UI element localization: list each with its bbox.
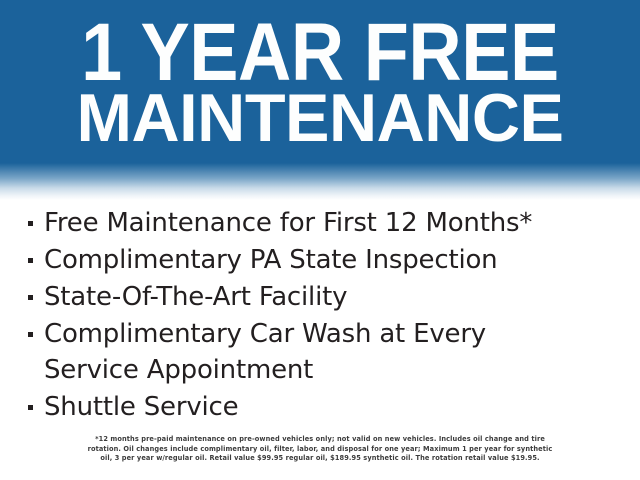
disclaimer-line-2: rotation. Oil changes include compliment… [38,445,602,455]
list-item-line-1: Free Maintenance for First 12 Months* [44,205,622,241]
list-item-text: Complimentary Car Wash at Every Service … [44,316,622,388]
list-item-line-1: Complimentary Car Wash at Every [44,316,622,352]
list-item: Complimentary Car Wash at Every Service … [22,316,622,388]
banner-gradient-fade [0,163,640,200]
list-item-line-1: Complimentary PA State Inspection [44,242,622,278]
square-bullet-icon [22,316,44,337]
disclaimer-line-3: oil, 3 per year w/regular oil. Retail va… [38,454,602,464]
list-item-text: Shuttle Service [44,389,622,425]
list-item: Complimentary PA State Inspection [22,242,622,278]
square-bullet-icon [22,279,44,300]
maintenance-offer-ad: 1 YEAR FREE MAINTENANCE Free Maintenance… [0,0,640,480]
list-item-line-1: Shuttle Service [44,389,622,425]
offer-list: Free Maintenance for First 12 Months* Co… [22,205,622,426]
list-item: Free Maintenance for First 12 Months* [22,205,622,241]
square-bullet-icon [22,389,44,410]
list-item-text: State-Of-The-Art Facility [44,279,622,315]
square-bullet-icon [22,242,44,263]
list-item: State-Of-The-Art Facility [22,279,622,315]
list-item-line-1: State-Of-The-Art Facility [44,279,622,315]
square-bullet-icon [22,205,44,226]
list-item-line-2: Service Appointment [44,352,622,388]
headline-line-2: MAINTENANCE [6,84,633,152]
disclaimer-line-1: *12 months pre-paid maintenance on pre-o… [38,435,602,445]
disclaimer: *12 months pre-paid maintenance on pre-o… [38,435,602,464]
list-item: Shuttle Service [22,389,622,425]
list-item-text: Free Maintenance for First 12 Months* [44,205,622,241]
list-item-text: Complimentary PA State Inspection [44,242,622,278]
